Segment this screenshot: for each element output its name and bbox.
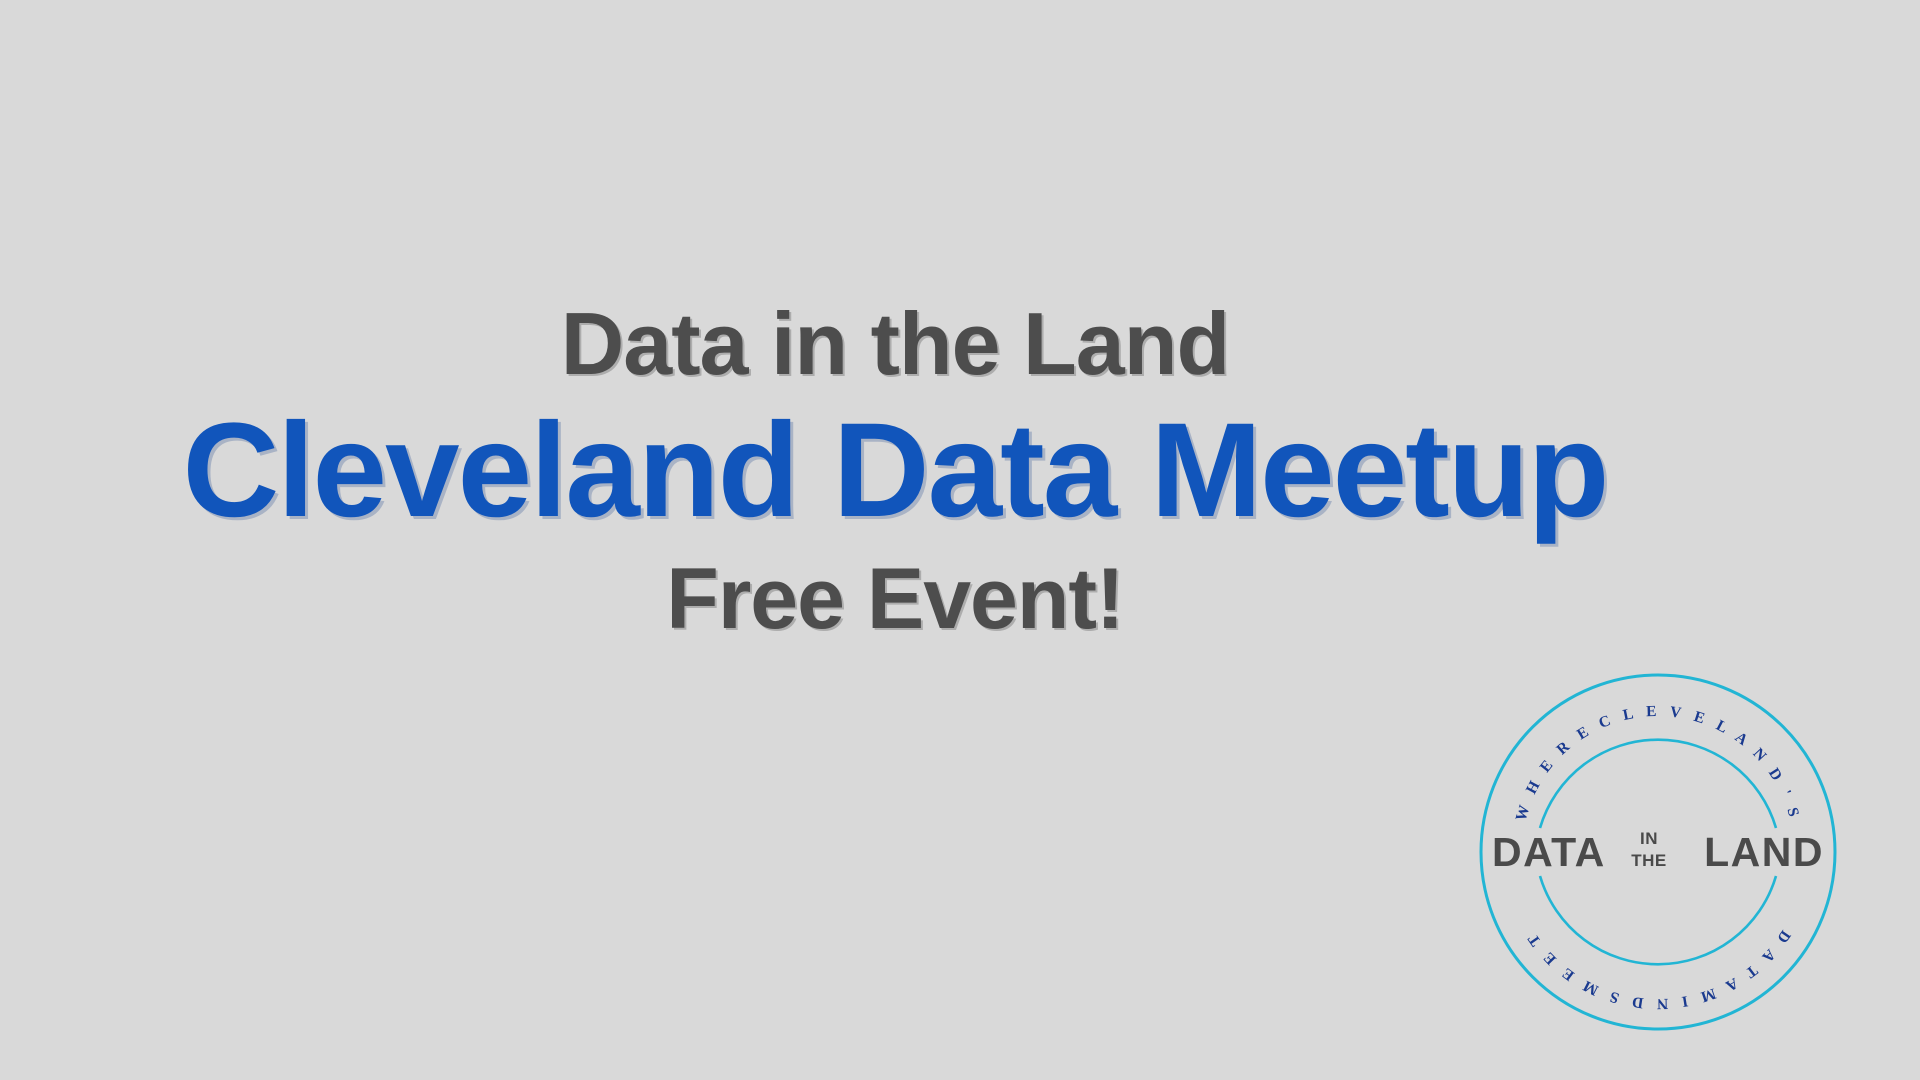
badge-bottom-arc-text: D A T A M I N D S M E E T: [1522, 927, 1794, 1012]
badge-bottom-arc-textpath: D A T A M I N D S M E E T: [1522, 927, 1794, 1012]
page-title: Cleveland Data Meetup: [0, 404, 1790, 538]
badge-logo: W H E R E C L E V E L A N D ' S D A T A …: [1478, 672, 1838, 1032]
badge-word-in: IN: [1640, 829, 1658, 848]
inner-arc-bottom: [1540, 876, 1776, 964]
badge-top-arc-textpath: W H E R E C L E V E L A N D ' S: [1513, 703, 1804, 823]
headline-block: Data in the Land Cleveland Data Meetup F…: [0, 300, 1790, 642]
badge-word-data: DATA: [1492, 829, 1606, 875]
subtitle-text: Free Event!: [0, 556, 1790, 642]
inner-arc-top: [1540, 740, 1776, 828]
badge-top-arc-text: W H E R E C L E V E L A N D ' S: [1513, 703, 1804, 823]
eyebrow-text: Data in the Land: [0, 300, 1790, 388]
badge-word-land: LAND: [1704, 829, 1824, 875]
event-banner: Data in the Land Cleveland Data Meetup F…: [0, 0, 1920, 1080]
badge-word-the: THE: [1631, 851, 1667, 870]
